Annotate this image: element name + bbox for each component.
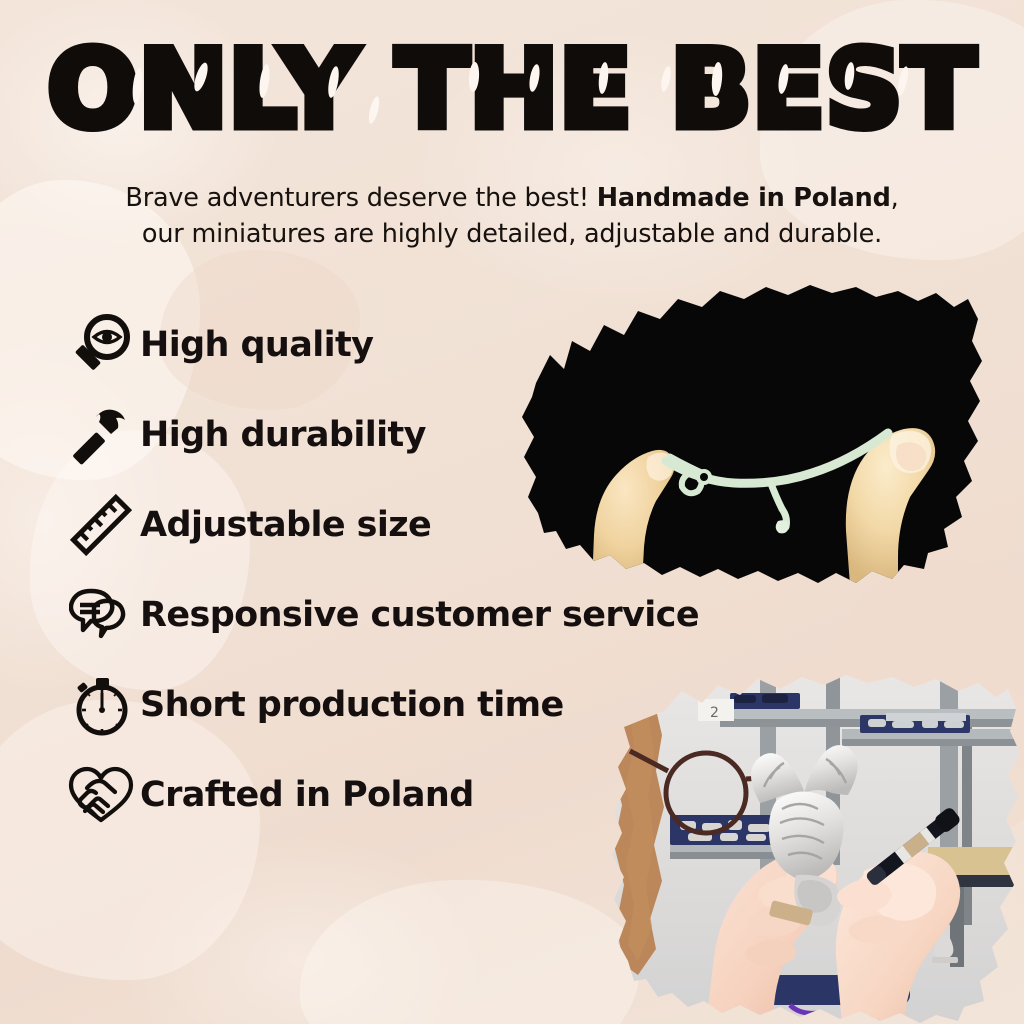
paper-blotch xyxy=(300,880,640,1024)
feature-label: Short production time xyxy=(140,685,564,725)
poster-root: ONLY THE BEST Brave adventurers deserve … xyxy=(0,0,1024,1024)
ruler-icon xyxy=(62,486,140,564)
flexible-miniature-photo xyxy=(520,285,990,585)
subtitle: Brave adventurers deserve the best! Hand… xyxy=(62,180,962,252)
subtitle-highlight: Handmade in Poland xyxy=(597,183,891,213)
svg-text:2: 2 xyxy=(710,705,719,721)
subtitle-line1-plain: Brave adventurers deserve the best! xyxy=(125,183,596,213)
subtitle-line2: our miniatures are highly detailed, adju… xyxy=(142,219,882,249)
feature-label: Crafted in Poland xyxy=(140,775,474,815)
feature-label: Adjustable size xyxy=(140,505,431,545)
page-title: ONLY THE BEST xyxy=(0,34,1024,146)
stopwatch-icon xyxy=(62,666,140,744)
magnifier-eye-icon xyxy=(62,306,140,384)
subtitle-line1-tail: , xyxy=(891,183,899,213)
heart-handshake-icon xyxy=(62,756,140,834)
feature-label: Responsive customer service xyxy=(140,595,699,635)
painting-workshop-photo: 2 xyxy=(610,675,1024,1024)
hammer-icon xyxy=(62,396,140,474)
speech-bubbles-icon xyxy=(62,576,140,654)
feature-label: High quality xyxy=(140,325,373,365)
feature-label: High durability xyxy=(140,415,426,455)
